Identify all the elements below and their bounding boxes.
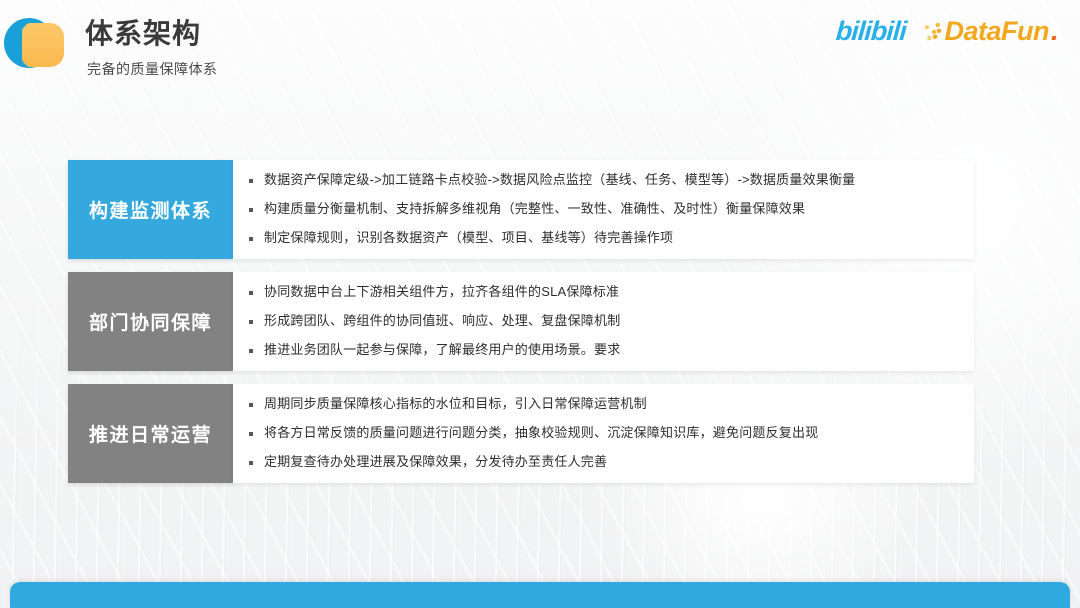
datafun-dots-icon [925,23,943,41]
list-item: 将各方日常反馈的质量问题进行问题分类，抽象校验规则、沉淀保障知识库，避免问题反复… [249,424,958,443]
list-item-text: 构建质量分衡量机制、支持拆解多维视角（完整性、一致性、准确性、及时性）衡量保障效… [264,200,958,219]
bullet-dot-icon [249,237,253,241]
row-body-3: 周期同步质量保障核心指标的水位和目标，引入日常保障运营机制 将各方日常反馈的质量… [233,384,974,483]
list-item-text: 形成跨团队、跨组件的协同值班、响应、处理、复盘保障机制 [264,312,958,331]
row-label-2[interactable]: 部门协同保障 [68,272,233,371]
bottom-accent-bar [10,582,1070,608]
list-item: 协同数据中台上下游相关组件方，拉齐各组件的SLA保障标准 [249,283,958,302]
list-item: 制定保障规则，识别各数据资产（模型、项目、基线等）待完善操作项 [249,229,958,248]
list-item: 周期同步质量保障核心指标的水位和目标，引入日常保障运营机制 [249,395,958,414]
list-item-text: 制定保障规则，识别各数据资产（模型、项目、基线等）待完善操作项 [264,229,958,248]
bullet-dot-icon [249,461,253,465]
table-row: 构建监测体系 数据资产保障定级->加工链路卡点校验->数据风险点监控（基线、任务… [68,160,974,259]
slide-header: 体系架构 完备的质量保障体系 bilibili DataFun . [0,0,1080,100]
datafun-wordmark: DataFun [944,18,1049,45]
bilibili-logo: bilibili [836,18,908,45]
datafun-period: . [1051,18,1058,45]
brand-logos: bilibili DataFun . [836,18,1058,45]
row-body-1: 数据资产保障定级->加工链路卡点校验->数据风险点监控（基线、任务、模型等）->… [233,160,974,259]
bullet-dot-icon [249,432,253,436]
list-item-text: 定期复查待办处理进展及保障效果，分发待办至责任人完善 [264,453,958,472]
list-item-text: 推进业务团队一起参与保障，了解最终用户的使用场景。要求 [264,341,958,360]
logo-hexagon-shape [22,23,64,67]
page-subtitle: 完备的质量保障体系 [87,59,218,79]
bullet-dot-icon [249,208,253,212]
datafun-logo: DataFun . [926,18,1058,45]
list-item-text: 数据资产保障定级->加工链路卡点校验->数据风险点监控（基线、任务、模型等）->… [264,171,958,190]
list-item: 数据资产保障定级->加工链路卡点校验->数据风险点监控（基线、任务、模型等）->… [249,171,958,190]
row-body-2: 协同数据中台上下游相关组件方，拉齐各组件的SLA保障标准 形成跨团队、跨组件的协… [233,272,974,371]
architecture-rows: 构建监测体系 数据资产保障定级->加工链路卡点校验->数据风险点监控（基线、任务… [68,160,974,496]
list-item: 形成跨团队、跨组件的协同值班、响应、处理、复盘保障机制 [249,312,958,331]
bullet-dot-icon [249,320,253,324]
list-item: 构建质量分衡量机制、支持拆解多维视角（完整性、一致性、准确性、及时性）衡量保障效… [249,200,958,219]
list-item-text: 周期同步质量保障核心指标的水位和目标，引入日常保障运营机制 [264,395,958,414]
list-item: 推进业务团队一起参与保障，了解最终用户的使用场景。要求 [249,341,958,360]
table-row: 部门协同保障 协同数据中台上下游相关组件方，拉齐各组件的SLA保障标准 形成跨团… [68,272,974,371]
bullet-dot-icon [249,179,253,183]
row-label-1[interactable]: 构建监测体系 [68,160,233,259]
bullet-dot-icon [249,349,253,353]
bullet-dot-icon [249,291,253,295]
bullet-dot-icon [249,403,253,407]
page-title: 体系架构 [85,16,218,51]
list-item: 定期复查待办处理进展及保障效果，分发待办至责任人完善 [249,453,958,472]
list-item-text: 协同数据中台上下游相关组件方，拉齐各组件的SLA保障标准 [264,283,958,302]
title-block: 体系架构 完备的质量保障体系 [85,16,218,79]
table-row: 推进日常运营 周期同步质量保障核心指标的水位和目标，引入日常保障运营机制 将各方… [68,384,974,483]
list-item-text: 将各方日常反馈的质量问题进行问题分类，抽象校验规则、沉淀保障知识库，避免问题反复… [264,424,958,443]
slide-canvas: 体系架构 完备的质量保障体系 bilibili DataFun . 构建监测体系 [0,0,1080,608]
row-label-3[interactable]: 推进日常运营 [68,384,233,483]
brand-mark-icon [4,14,66,76]
